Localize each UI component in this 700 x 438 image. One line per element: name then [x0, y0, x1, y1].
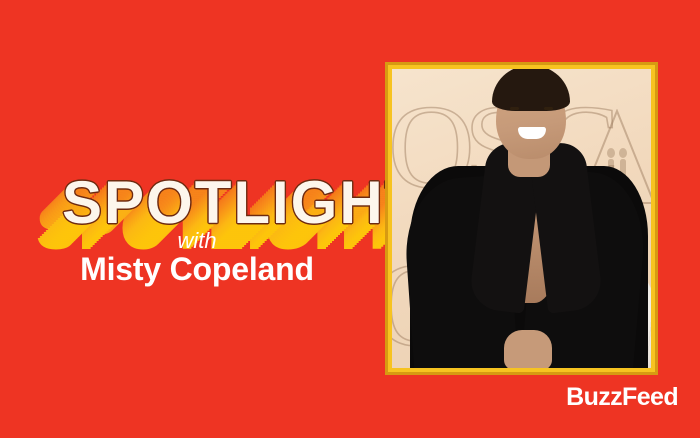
- hand: [504, 330, 552, 368]
- guest-subject-figure: [392, 69, 651, 368]
- spotlight-title-lockup: SPOTLIGHT SPOTLIGHT SPOTLIGHT SPOTLIGHT …: [0, 128, 380, 238]
- guest-name-text: Misty Copeland: [50, 251, 344, 288]
- hair: [492, 69, 570, 111]
- poster-canvas: SPOTLIGHT SPOTLIGHT SPOTLIGHT SPOTLIGHT …: [0, 0, 700, 438]
- guest-photo-frame-inner: O S C O S: [388, 65, 655, 372]
- spotlight-title-text: SPOTLIGHT: [62, 168, 423, 237]
- eye-right: [544, 107, 553, 110]
- buzzfeed-logo: BuzzFeed: [566, 383, 678, 412]
- guest-photo: O S C O S: [392, 69, 651, 368]
- eye-left: [510, 107, 519, 110]
- smile: [518, 127, 546, 139]
- guest-photo-frame: O S C O S: [385, 62, 658, 375]
